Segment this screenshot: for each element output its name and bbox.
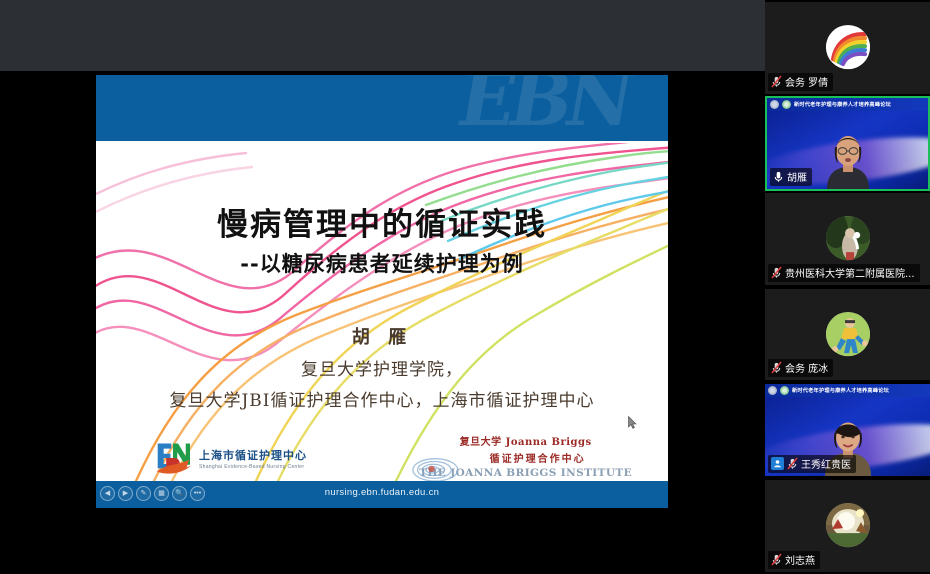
- pen-tool-button[interactable]: ✎: [136, 486, 151, 501]
- mic-active-icon: [773, 170, 784, 183]
- jbi-spiral-icon: [411, 453, 467, 481]
- participant-name: 胡雁: [787, 169, 807, 184]
- participant-tile[interactable]: 贵州医科大学第二附属医院...: [765, 191, 930, 287]
- participant-badge: 刘志燕: [768, 551, 820, 569]
- mic-muted-icon: [771, 361, 782, 374]
- participant-name: 贵州医科大学第二附属医院...: [785, 265, 915, 280]
- participant-tile[interactable]: 刘志燕: [765, 478, 930, 574]
- ebn-watermark: EBN: [452, 75, 636, 141]
- seal-icon: [770, 100, 779, 109]
- participant-name: 会务 罗倩: [785, 74, 828, 89]
- participant-tile[interactable]: 会务 庞冰: [765, 287, 930, 383]
- participant-badge: 会务 庞冰: [768, 359, 833, 377]
- presentation-controls[interactable]: ◀ ▶ ✎ ▦ 🔍 •••: [100, 486, 205, 501]
- avatar: [826, 216, 870, 260]
- previous-slide-button[interactable]: ◀: [100, 486, 115, 501]
- shared-screen-stage[interactable]: EBN: [0, 71, 765, 574]
- shanghai-ebn-logo-cn: 上海市循证护理中心: [199, 447, 307, 463]
- avatar: [826, 312, 870, 356]
- avatar: [826, 25, 870, 69]
- mic-muted-icon: [787, 457, 798, 470]
- participant-tile-active-speaker[interactable]: 新时代老年护理与康养人才培养高峰论坛: [765, 96, 930, 192]
- conference-banner: 新时代老年护理与康养人才培养高峰论坛: [765, 384, 930, 397]
- conference-banner: 新时代老年护理与康养人才培养高峰论坛: [767, 98, 928, 111]
- ebn-logo-icon: [154, 441, 192, 475]
- next-slide-button[interactable]: ▶: [118, 486, 133, 501]
- participant-name: 王秀红贵医: [801, 456, 851, 471]
- participant-badge: 会务 罗倩: [768, 73, 833, 91]
- mic-muted-icon: [771, 75, 782, 88]
- person-icon: [773, 459, 782, 468]
- conference-banner-text: 新时代老年护理与康养人才培养高峰论坛: [792, 387, 889, 394]
- participant-name: 会务 庞冰: [785, 360, 828, 375]
- participant-filmstrip[interactable]: 会务 罗倩 新时代老年护理与康养人才培养高峰论坛: [765, 0, 930, 574]
- participant-badge: 贵州医科大学第二附属医院...: [768, 264, 920, 282]
- slide-affiliation-line-1: 复旦大学护理学院，: [96, 355, 668, 380]
- rainbow-avatar-icon: [826, 25, 870, 69]
- seal-green-icon: [780, 386, 789, 395]
- mic-muted-icon: [771, 266, 782, 279]
- app-top-chrome: [0, 0, 765, 71]
- zoom-in-button[interactable]: 🔍: [172, 486, 187, 501]
- slide-title: 慢病管理中的循证实践: [96, 199, 668, 244]
- slide-footer-band: nursing.ebn.fudan.edu.cn ◀ ▶ ✎ ▦ 🔍 •••: [96, 481, 668, 508]
- jbi-logo: 复旦大学 Joanna Briggs 循证护理合作中心 THE JOANNA B…: [419, 433, 632, 479]
- participant-video-portrait: [821, 127, 875, 189]
- slide-subtitle: --以糖尿病患者延续护理为例: [96, 248, 668, 278]
- decorative-ribbons: [96, 143, 668, 481]
- participant-tile[interactable]: 新时代老年护理与康养人才培养高峰论坛: [765, 382, 930, 478]
- all-slides-button[interactable]: ▦: [154, 486, 169, 501]
- jbi-logo-cn-line-1: 复旦大学 Joanna Briggs: [419, 433, 632, 448]
- slide-body: 慢病管理中的循证实践 --以糖尿病患者延续护理为例 胡 雁 复旦大学护理学院， …: [96, 143, 668, 481]
- conference-banner-text: 新时代老年护理与康养人才培养高峰论坛: [794, 101, 891, 108]
- slide-affiliation-line-2: 复旦大学JBI循证护理合作中心，上海市循证护理中心: [96, 386, 668, 411]
- participant-badge: 胡雁: [770, 168, 812, 186]
- host-icon: [771, 457, 784, 470]
- shanghai-ebn-logo: 上海市循证护理中心 Shanghai Evidence-Based Nursin…: [154, 441, 307, 475]
- participant-tile[interactable]: 会务 罗倩: [765, 0, 930, 96]
- illustration-avatar-green-icon: [826, 312, 870, 356]
- more-options-button[interactable]: •••: [190, 486, 205, 501]
- participant-name: 刘志燕: [785, 552, 815, 567]
- photo-avatar-forest-icon: [826, 216, 870, 260]
- slide-header-band: EBN: [96, 75, 668, 141]
- slide-author: 胡 雁: [96, 323, 668, 349]
- photo-avatar-bright-icon: [826, 503, 870, 547]
- mic-muted-icon: [771, 553, 782, 566]
- meeting-window: EBN: [0, 0, 930, 574]
- avatar: [826, 503, 870, 547]
- presentation-slide[interactable]: EBN: [96, 75, 668, 508]
- shanghai-ebn-logo-en: Shanghai Evidence-Based Nursing Center: [199, 464, 307, 470]
- seal-green-icon: [782, 100, 791, 109]
- seal-icon: [768, 386, 777, 395]
- participant-badge: 王秀红贵医: [768, 455, 856, 473]
